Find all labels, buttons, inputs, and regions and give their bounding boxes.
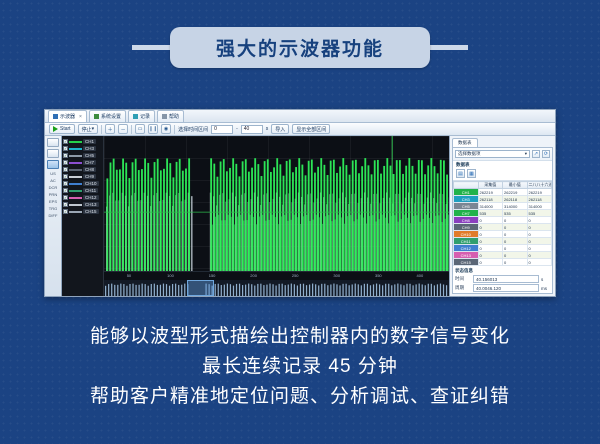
channel-checkbox[interactable]: ✓ [63, 146, 68, 151]
status-value: 40.156013 [473, 275, 539, 283]
table-cell-value: 0 [527, 224, 552, 231]
start-button[interactable]: Start [49, 124, 75, 134]
range-from-input[interactable]: 0 [211, 125, 233, 134]
legend-row[interactable]: ✓CH10 [63, 180, 102, 187]
pause-icon[interactable]: ❙❙ [148, 124, 158, 134]
channel-checkbox[interactable]: ✓ [63, 209, 68, 214]
tab-label: 系统设置 [101, 113, 121, 120]
banner-rule-right [424, 45, 468, 50]
table-cell-value: 0 [478, 245, 503, 252]
table-cell-value: 0 [478, 259, 503, 266]
table-cell-value: 0 [478, 252, 503, 259]
channel-checkbox[interactable]: ✓ [63, 181, 68, 186]
table-cell-value: 262219 [527, 189, 552, 196]
legend-row[interactable]: ✓CH13 [63, 201, 102, 208]
axis-tick-label: 200 [250, 273, 257, 278]
table-column-header [454, 182, 479, 189]
table-cell-value: 0 [527, 231, 552, 238]
banner-plate: 强大的示波器功能 [170, 27, 430, 68]
channel-color-swatch [69, 162, 82, 164]
zoom-in-icon[interactable]: ＋ [105, 124, 115, 134]
table-cell-value: 0 [503, 217, 528, 224]
table-column-header: 采集值 [478, 182, 503, 189]
table-row[interactable]: CH15000 [454, 259, 552, 266]
rail-label: AC [50, 178, 56, 183]
axis-tick-label: 50 [127, 273, 131, 278]
tab-settings[interactable]: 系统设置 [89, 110, 126, 122]
table-row[interactable]: CH11000 [454, 238, 552, 245]
table-cell-value: 262219 [478, 189, 503, 196]
channel-label: CH12 [83, 195, 99, 200]
table-cell-value: 0 [503, 224, 528, 231]
channel-color-swatch [69, 197, 82, 199]
channel-checkbox[interactable]: ✓ [63, 195, 68, 200]
table-cell-value: 535 [503, 210, 528, 217]
tab-oscilloscope[interactable]: 示波器 × [48, 110, 87, 122]
table-header-row: 采集值最小值二八八十六进制值 [454, 182, 552, 189]
channel-label: CH10 [83, 181, 99, 186]
channel-color-swatch [69, 169, 82, 171]
rail-label: PRN [49, 192, 57, 197]
table-cell-value: 535 [527, 210, 552, 217]
time-axis: 50100150200250300350400 [104, 271, 449, 280]
table-row[interactable]: CH5314000314000314000 [454, 203, 552, 210]
table-column-header: 二八八十六进制值 [527, 182, 552, 189]
select-value: 选择数据项 [458, 151, 481, 157]
table-cell-channel: CH15 [454, 259, 479, 266]
table-row[interactable]: CH13000 [454, 252, 552, 259]
refresh-icon[interactable]: ⟳ [542, 150, 550, 158]
channel-checkbox[interactable]: ✓ [63, 202, 68, 207]
status-unit: ms [541, 286, 550, 291]
cursor-tool-icon[interactable] [47, 138, 59, 147]
start-label: Start [60, 126, 71, 132]
minimap-selection-handle[interactable] [187, 280, 215, 296]
table-cell-channel: CH1 [454, 189, 479, 196]
channel-color-swatch [69, 155, 82, 157]
toolbar-divider [174, 125, 175, 134]
waveform-area: 50100150200250300350400 [104, 136, 449, 296]
channel-color-swatch [69, 190, 82, 192]
status-unit: s [541, 277, 550, 282]
data-panel: 数据表 选择数据项 ▾ ↗ ⟳ 数据表 ▤ ▦ 采集值最小值二 [449, 136, 555, 296]
legend-row[interactable]: ✓CH3 [63, 145, 102, 152]
legend-row[interactable]: ✓CH5 [63, 152, 102, 159]
table-cell-value: 0 [527, 217, 552, 224]
table-cell-channel: CH7 [454, 210, 479, 217]
tab-help[interactable]: 帮助 [157, 110, 184, 122]
legend-row[interactable]: ✓CH15 [63, 208, 102, 215]
data-table-container[interactable]: 采集值最小值二八八十六进制值 CH1262219262219262219CH32… [453, 180, 552, 266]
table-row[interactable]: CH10000 [454, 231, 552, 238]
left-tool-rail: US AC DCR PRN EPS TRG DIFF [45, 136, 62, 296]
table-cell-channel: CH8 [454, 217, 479, 224]
channel-checkbox[interactable]: ✓ [63, 153, 68, 158]
channel-label: CH8 [83, 167, 96, 172]
legend-row[interactable]: ✓CH11 [63, 187, 102, 194]
globe-icon[interactable]: ◉ [161, 124, 171, 134]
chevron-down-icon: ▾ [525, 151, 527, 157]
legend-row[interactable]: ✓CH8 [63, 166, 102, 173]
table-cell-channel: CH11 [454, 238, 479, 245]
stop-button[interactable]: 停止 ▾ [78, 124, 99, 134]
tab-strip: 示波器 × 系统设置 记录 帮助 [45, 110, 555, 123]
table-cell-value: 0 [478, 231, 503, 238]
channel-color-swatch [69, 211, 82, 213]
table-cell-channel: CH13 [454, 252, 479, 259]
channel-color-swatch [69, 183, 82, 185]
caption-block: 能够以波型形式描绘出控制器内的数字信号变化 最长连续记录 45 分钟 帮助客户精… [0, 322, 600, 412]
minimap-traces [104, 280, 449, 296]
trigger-tool-icon[interactable] [47, 160, 59, 169]
table-cell-channel: CH3 [454, 196, 479, 203]
import-label: 导入 [275, 126, 285, 133]
channel-label: CH11 [83, 188, 98, 193]
rail-label: EPS [49, 199, 57, 204]
table-cell-value: 0 [503, 259, 528, 266]
channel-label: CH7 [83, 160, 96, 165]
channel-label: CH5 [83, 153, 96, 158]
import-button[interactable]: 导入 [271, 124, 289, 134]
toolbar-divider [131, 125, 132, 134]
channel-label: CH1 [83, 139, 96, 144]
table-cell-channel: CH10 [454, 231, 479, 238]
status-row: 周期40.0046.120ms [455, 284, 550, 292]
table-cell-value: 262219 [503, 189, 528, 196]
axis-tick-label: 300 [333, 273, 340, 278]
data-table-title: 数据表 [453, 161, 552, 169]
apply-range-button[interactable]: 显示全部区间 [292, 124, 330, 134]
table-row[interactable]: CH3262118262118262118 [454, 196, 552, 203]
rail-label: TRG [49, 206, 57, 211]
data-table: 采集值最小值二八八十六进制值 CH1262219262219262219CH32… [453, 181, 552, 266]
axis-tick-label: 250 [292, 273, 299, 278]
table-cell-value: 314000 [478, 203, 503, 210]
select-tool-icon[interactable]: ▭ [135, 124, 145, 134]
stop-label: 停止 [82, 126, 92, 133]
table-row[interactable]: CH1262219262219262219 [454, 189, 552, 196]
window-icon [53, 114, 58, 119]
data-panel-toolbar: 选择数据项 ▾ ↗ ⟳ [453, 148, 552, 161]
zoom-out-icon[interactable]: － [118, 124, 128, 134]
oscilloscope-app-window: 示波器 × 系统设置 记录 帮助 Start 停止 ▾ ＋ － ▭ ❙❙ ◉ [44, 109, 556, 297]
rail-label: US [50, 171, 56, 176]
range-dash: - [236, 126, 238, 132]
channel-label: CH13 [83, 202, 99, 207]
toolbar-divider [101, 125, 102, 134]
table-cell-channel: CH9 [454, 224, 479, 231]
channel-checkbox[interactable]: ✓ [63, 188, 68, 193]
status-value: 40.0046.120 [473, 284, 539, 292]
channel-color-swatch [69, 141, 82, 143]
overview-minimap[interactable] [104, 280, 449, 296]
table-cell-channel: CH5 [454, 203, 479, 210]
settings-icon [94, 114, 99, 119]
legend-row[interactable]: ✓CH7 [63, 159, 102, 166]
table-cell-value: 0 [503, 238, 528, 245]
status-label: 周期 [455, 285, 471, 291]
status-row: 时间40.156013s [455, 275, 550, 283]
tab-label: 帮助 [169, 113, 179, 120]
record-icon [133, 114, 138, 119]
table-cell-value: 0 [478, 238, 503, 245]
legend-row[interactable]: ✓CH1 [63, 138, 102, 145]
table-cell-value: 0 [503, 245, 528, 252]
rail-label: DCR [49, 185, 58, 190]
data-table-buttons: ▤ ▦ [453, 169, 552, 180]
channel-checkbox[interactable]: ✓ [63, 160, 68, 165]
channel-checkbox[interactable]: ✓ [63, 174, 68, 179]
measure-tool-icon[interactable] [47, 149, 59, 158]
copy-icon[interactable]: ▤ [456, 169, 465, 178]
channel-color-swatch [69, 176, 82, 178]
table-cell-value: 0 [503, 231, 528, 238]
axis-tick-label: 400 [417, 273, 424, 278]
title-banner: 强大的示波器功能 [0, 26, 600, 68]
waveform-traces [104, 136, 449, 271]
tab-record[interactable]: 记录 [128, 110, 155, 122]
channel-checkbox[interactable]: ✓ [63, 167, 68, 172]
table-cell-value: 535 [478, 210, 503, 217]
range-label: 选择时间区间 [178, 126, 208, 133]
channel-checkbox[interactable]: ✓ [63, 139, 68, 144]
axis-tick-label: 150 [209, 273, 216, 278]
caption-line-3: 帮助客户精准地定位问题、分析调试、查证纠错 [0, 382, 600, 412]
table-cell-value: 314000 [527, 203, 552, 210]
table-cell-value: 0 [503, 252, 528, 259]
channel-label: CH3 [83, 146, 96, 151]
table-cell-value: 0 [478, 224, 503, 231]
page-title: 强大的示波器功能 [216, 34, 384, 61]
channel-color-swatch [69, 204, 82, 206]
rail-label: DIFF [49, 213, 58, 218]
channel-legend: ✓CH1✓CH3✓CH5✓CH7✓CH8✓CH9✓CH10✓CH11✓CH12✓… [62, 136, 104, 296]
table-view-icon[interactable]: ▦ [467, 169, 476, 178]
table-cell-value: 262118 [478, 196, 503, 203]
tab-label: 示波器 [60, 113, 75, 120]
status-label: 时间 [455, 276, 471, 282]
table-row[interactable]: CH7535535535 [454, 210, 552, 217]
channel-color-swatch [69, 148, 82, 150]
table-cell-value: 0 [527, 245, 552, 252]
legend-row[interactable]: ✓CH9 [63, 173, 102, 180]
table-cell-value: 262118 [527, 196, 552, 203]
data-panel-tab[interactable]: 数据表 [452, 138, 478, 147]
status-title: 状态信息 [455, 268, 550, 274]
data-panel-card: 选择数据项 ▾ ↗ ⟳ 数据表 ▤ ▦ 采集值最小值二八八十六进制值 CH126… [452, 147, 553, 294]
export-icon[interactable]: ↗ [532, 150, 540, 158]
table-row[interactable]: CH8000 [454, 217, 552, 224]
play-icon [53, 126, 58, 132]
data-item-select[interactable]: 选择数据项 ▾ [455, 150, 530, 158]
range-unit: s [266, 126, 269, 132]
status-section: 状态信息 时间40.156013s周期40.0046.120ms [453, 266, 552, 293]
channel-label: CH9 [83, 174, 96, 179]
caption-line-1: 能够以波型形式描绘出控制器内的数字信号变化 [0, 322, 600, 352]
caption-line-2: 最长连续记录 45 分钟 [0, 352, 600, 382]
waveform-plot[interactable] [104, 136, 449, 271]
axis-tick-label: 350 [375, 273, 382, 278]
apply-label: 显示全部区间 [296, 126, 326, 133]
close-icon[interactable]: × [79, 114, 82, 120]
main-toolbar: Start 停止 ▾ ＋ － ▭ ❙❙ ◉ 选择时间区间 0 - 40 s 导入… [45, 123, 555, 136]
legend-row[interactable]: ✓CH12 [63, 194, 102, 201]
table-cell-value: 0 [527, 252, 552, 259]
table-cell-channel: CH12 [454, 245, 479, 252]
table-row[interactable]: CH12000 [454, 245, 552, 252]
table-cell-value: 314000 [503, 203, 528, 210]
axis-tick-label: 100 [167, 273, 174, 278]
table-column-header: 最小值 [503, 182, 528, 189]
app-body: US AC DCR PRN EPS TRG DIFF ✓CH1✓CH3✓CH5✓… [45, 136, 555, 296]
channel-label: CH15 [83, 209, 99, 214]
chevron-down-icon[interactable]: ▾ [92, 126, 95, 132]
table-cell-value: 0 [527, 238, 552, 245]
table-cell-value: 262118 [503, 196, 528, 203]
range-to-input[interactable]: 40 [241, 125, 263, 134]
table-cell-value: 0 [527, 259, 552, 266]
tab-label: 记录 [140, 113, 150, 120]
table-row[interactable]: CH9000 [454, 224, 552, 231]
table-cell-value: 0 [478, 217, 503, 224]
help-icon [162, 114, 167, 119]
